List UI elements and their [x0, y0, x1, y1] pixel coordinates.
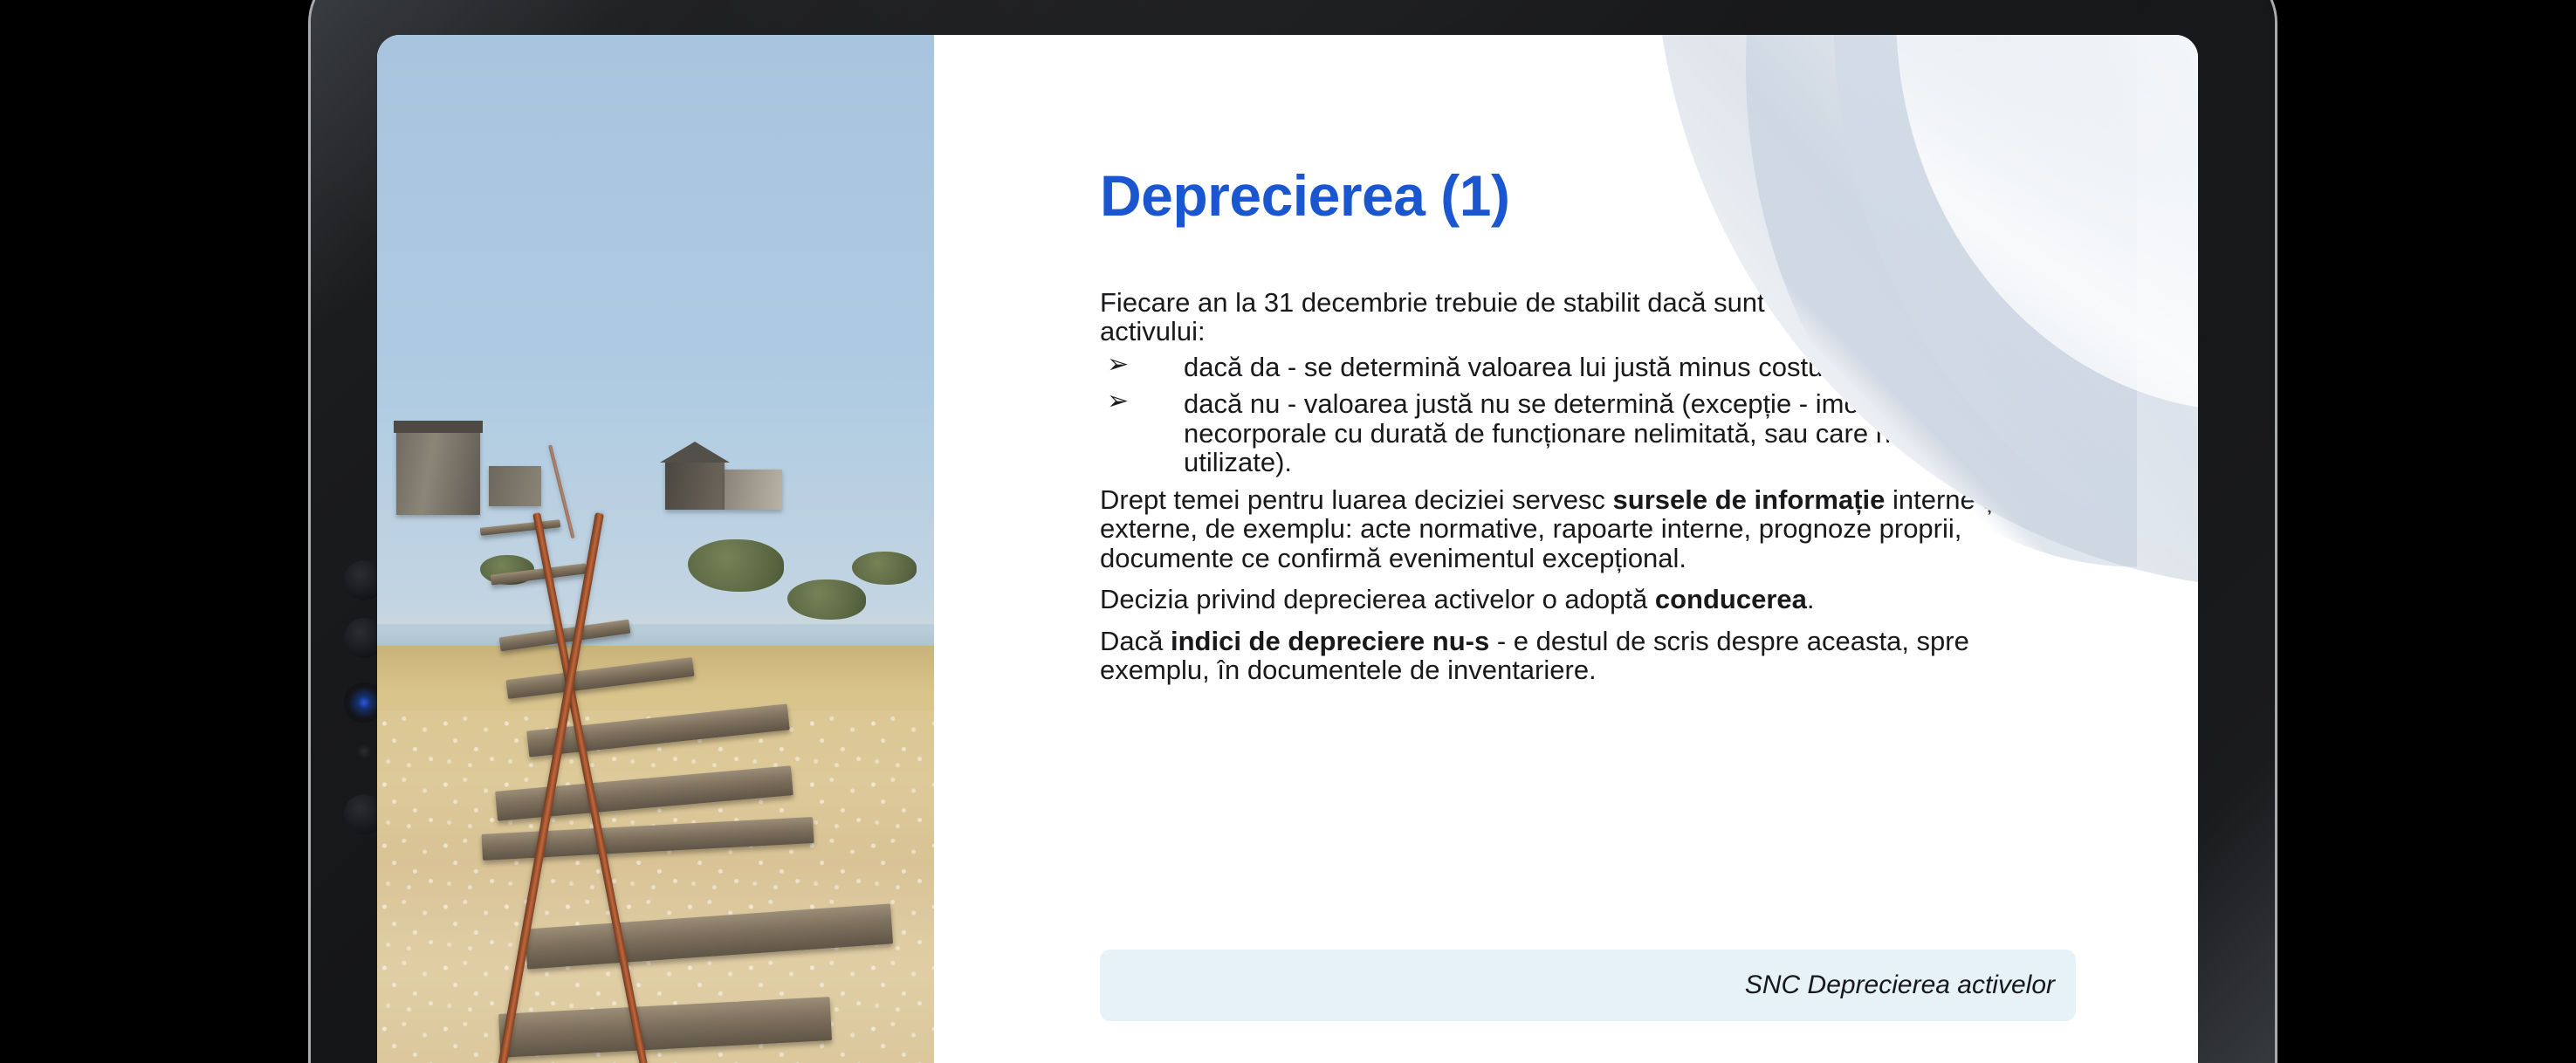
source-citation-box: SNC Deprecierea activelor [1100, 950, 2076, 1021]
source-citation-text: SNC Deprecierea activelor [1745, 970, 2055, 1000]
screenshot-root: Deprecierea (1) Fiecare an la 31 decembr… [0, 0, 2576, 1063]
bullet-list: ➢ dacă da - se determină valoarea lui ju… [1100, 353, 2060, 477]
decision-paragraph: Decizia privind deprecierea activelor o … [1100, 585, 2060, 614]
photo-hut [665, 461, 725, 510]
tablet-screen: Deprecierea (1) Fiecare an la 31 decembr… [377, 35, 2198, 1063]
photo-sky [377, 35, 934, 646]
arrow-bullet-icon: ➢ [1107, 387, 1129, 415]
sensor-dot-icon [356, 744, 372, 759]
noindices-run-2: indici de depreciere nu-s [1171, 626, 1489, 656]
photo-bush [688, 539, 784, 592]
photo-hut [396, 429, 480, 515]
sources-run-1: Drept temei pentru luarea deciziei serve… [1100, 484, 1613, 515]
noindices-paragraph: Dacă indici de depreciere nu-s - e destu… [1100, 627, 2060, 685]
photo-bush [852, 552, 917, 585]
intro-paragraph: Fiecare an la 31 decembrie trebuie de st… [1100, 288, 2060, 346]
decision-run-1: Decizia privind deprecierea activelor o … [1100, 584, 1655, 614]
list-item: ➢ dacă da - se determină valoarea lui ju… [1100, 353, 2060, 381]
photo-bush [787, 580, 866, 620]
page-title: Deprecierea (1) [1100, 162, 1509, 229]
list-item: ➢ dacă nu - valoarea justă nu se determi… [1100, 389, 2060, 477]
intro-run-2: indici de depreciere [1772, 287, 2026, 318]
slide-body: Fiecare an la 31 decembrie trebuie de st… [1100, 288, 2060, 688]
slide-content: Deprecierea (1) Fiecare an la 31 decembr… [934, 35, 2198, 1063]
sources-paragraph: Drept temei pentru luarea deciziei serve… [1100, 485, 2060, 573]
photo-hut [725, 470, 782, 510]
railway-track-landscape-photo [377, 35, 934, 1063]
decision-run-3: . [1807, 584, 1815, 614]
list-item-label: dacă nu - valoarea justă nu se determină… [1184, 388, 1972, 477]
decision-run-2: conducerea [1655, 584, 1807, 614]
noindices-run-1: Dacă [1100, 626, 1171, 656]
list-item-label: dacă da - se determină valoarea lui just… [1184, 352, 2001, 382]
arrow-bullet-icon: ➢ [1107, 351, 1129, 379]
intro-run-1: Fiecare an la 31 decembrie trebuie de st… [1100, 287, 1772, 318]
sources-run-2: sursele de informație [1613, 484, 1886, 515]
photo-hut [489, 466, 541, 506]
